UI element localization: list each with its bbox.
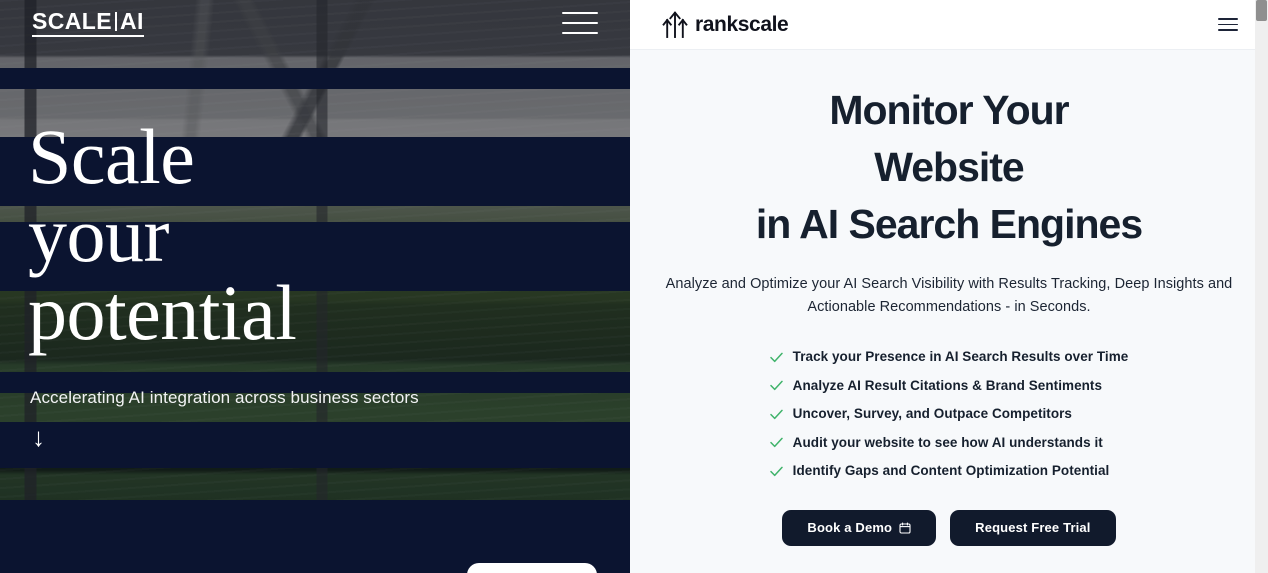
left-hero-subtitle: Accelerating AI integration across busin… bbox=[30, 388, 419, 408]
headline-line-2: Website bbox=[652, 139, 1246, 196]
feature-list: Track your Presence in AI Search Results… bbox=[770, 343, 1129, 486]
check-icon bbox=[770, 437, 783, 448]
navy-band bbox=[0, 422, 630, 468]
vertical-scrollbar-track[interactable] bbox=[1255, 0, 1268, 573]
logo-text-main: SCALE bbox=[32, 10, 112, 33]
scale-ai-logo[interactable]: SCALE AI bbox=[32, 10, 144, 37]
feature-label: Analyze AI Result Citations & Brand Sent… bbox=[793, 372, 1102, 401]
book-demo-label: Book a Demo bbox=[807, 520, 892, 535]
left-website-panel: SCALE AI Scale your potential Accelerati… bbox=[0, 0, 630, 573]
cta-button-group: Book a Demo Request Free Trial bbox=[652, 510, 1246, 546]
logo-divider bbox=[115, 12, 117, 31]
navy-band bbox=[0, 68, 630, 89]
rankscale-brand-name: rankscale bbox=[695, 14, 788, 35]
list-item: Uncover, Survey, and Outpace Competitors bbox=[770, 400, 1129, 429]
headline-line-3: in AI Search Engines bbox=[652, 196, 1246, 253]
hero-line-2: your bbox=[28, 196, 296, 274]
right-website-panel: rankscale Monitor Your Website in AI Sea… bbox=[630, 0, 1268, 573]
scroll-down-arrow-icon[interactable]: ↓ bbox=[32, 424, 45, 450]
hero-subtitle: Analyze and Optimize your AI Search Visi… bbox=[659, 273, 1239, 319]
feature-label: Track your Presence in AI Search Results… bbox=[793, 343, 1129, 372]
list-item: Audit your website to see how AI underst… bbox=[770, 429, 1129, 458]
check-icon bbox=[770, 380, 783, 391]
calendar-icon bbox=[899, 522, 911, 534]
page-title: Monitor Your Website in AI Search Engine… bbox=[652, 82, 1246, 253]
request-free-trial-button[interactable]: Request Free Trial bbox=[950, 510, 1115, 546]
rankscale-header: rankscale bbox=[630, 0, 1268, 50]
feature-label: Identify Gaps and Content Optimization P… bbox=[793, 457, 1110, 486]
check-icon bbox=[770, 466, 783, 477]
hamburger-menu-icon[interactable] bbox=[1218, 18, 1238, 31]
rankscale-logo[interactable]: rankscale bbox=[662, 11, 788, 38]
left-hero-heading: Scale your potential bbox=[28, 118, 296, 352]
hero-line-1: Scale bbox=[28, 118, 296, 196]
hamburger-menu-icon[interactable] bbox=[562, 12, 598, 34]
feature-label: Audit your website to see how AI underst… bbox=[793, 429, 1103, 458]
book-demo-button[interactable]: Book a Demo bbox=[782, 510, 936, 546]
bottom-floating-panel[interactable] bbox=[467, 563, 597, 573]
logo-text-suffix: AI bbox=[120, 10, 144, 33]
feature-label: Uncover, Survey, and Outpace Competitors bbox=[793, 400, 1072, 429]
check-icon bbox=[770, 409, 783, 420]
list-item: Identify Gaps and Content Optimization P… bbox=[770, 457, 1129, 486]
check-icon bbox=[770, 352, 783, 363]
headline-line-1: Monitor Your bbox=[652, 82, 1246, 139]
rankscale-hero-section: Monitor Your Website in AI Search Engine… bbox=[630, 50, 1268, 573]
vertical-scrollbar-thumb[interactable] bbox=[1256, 0, 1267, 21]
list-item: Track your Presence in AI Search Results… bbox=[770, 343, 1129, 372]
left-site-header: SCALE AI bbox=[0, 0, 630, 46]
split-screen-comparison: SCALE AI Scale your potential Accelerati… bbox=[0, 0, 1268, 573]
hero-line-3: potential bbox=[28, 274, 296, 352]
ascending-arrows-logo-icon bbox=[662, 11, 688, 38]
list-item: Analyze AI Result Citations & Brand Sent… bbox=[770, 372, 1129, 401]
request-trial-label: Request Free Trial bbox=[975, 520, 1090, 535]
